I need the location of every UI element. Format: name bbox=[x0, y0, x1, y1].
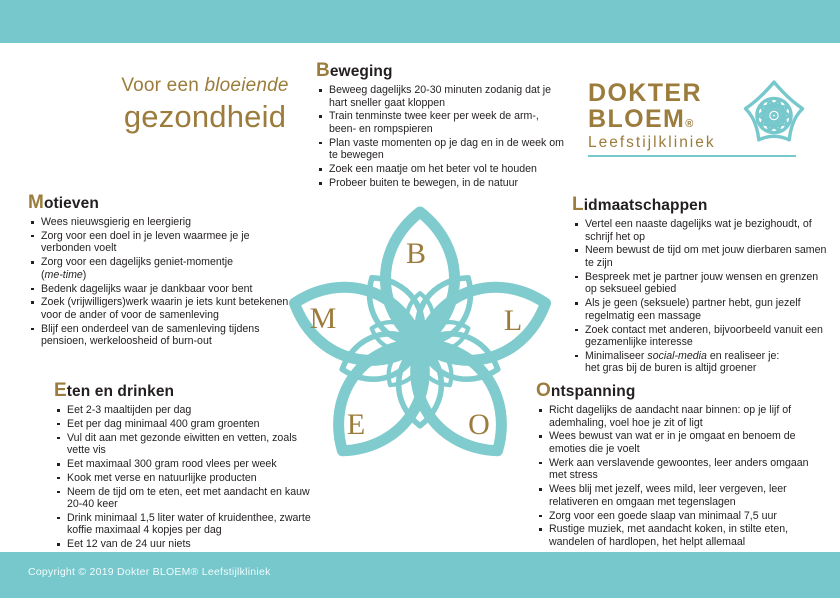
brand-logo: DOKTER BLOEM® Leefstijlkliniek bbox=[588, 80, 828, 170]
bullet-list-ontspanning: Richt dagelijks de aandacht naar binnen:… bbox=[536, 404, 828, 548]
list-item: Eet per dag minimaal 400 gram groenten bbox=[54, 418, 316, 431]
section-heading-motieven: Motieven bbox=[28, 192, 296, 214]
list-item: Zorg voor een goede slaap van minimaal 7… bbox=[536, 510, 828, 523]
list-item: Blijf een onderdeel van de samenleving t… bbox=[28, 323, 296, 348]
heading-capital: B bbox=[316, 60, 330, 81]
heading-rest: ten en drinken bbox=[67, 383, 174, 400]
section-beweging: Beweging Beweeg dagelijks 20-30 minuten … bbox=[316, 60, 564, 191]
list-item: Eet maximaal 300 gram rood vlees per wee… bbox=[54, 458, 316, 471]
list-item: Zoek (vrijwilligers)werk waarin je iets … bbox=[28, 296, 296, 321]
heading-rest: ntspanning bbox=[551, 383, 636, 400]
bullet-list-beweging: Beweeg dagelijks 20-30 minuten zodanig d… bbox=[316, 84, 564, 190]
flower-letter-m: M bbox=[306, 302, 340, 336]
list-item: Zoek een maatje om het beter vol te houd… bbox=[316, 163, 564, 176]
list-item: Werk aan verslavende gewoontes, leer and… bbox=[536, 457, 828, 482]
heading-rest: otieven bbox=[44, 195, 99, 212]
list-item: Bedenk dagelijks waar je dankbaar voor b… bbox=[28, 283, 296, 296]
list-item: Zoek contact met anderen, bijvoorbeeld v… bbox=[572, 324, 830, 349]
title-emphasis: bloeiende bbox=[204, 75, 288, 96]
logo-subtitle: Leefstijlkliniek bbox=[588, 134, 760, 152]
list-item: Vertel een naaste dagelijks wat je bezig… bbox=[572, 218, 830, 243]
list-item: Zorg voor een doel in je leven waarmee j… bbox=[28, 230, 296, 255]
heading-capital: E bbox=[54, 380, 67, 401]
list-item: Neem de tijd om te eten, eet met aandach… bbox=[54, 486, 316, 511]
section-eten-en-drinken: Eten en drinken Eet 2-3 maaltijden per d… bbox=[54, 380, 316, 552]
list-item: Probeer buiten te bewegen, in de natuur bbox=[316, 177, 564, 190]
list-item: Rustige muziek, met aandacht koken, in s… bbox=[536, 523, 828, 548]
list-item: Richt dagelijks de aandacht naar binnen:… bbox=[536, 404, 828, 429]
bullet-list-motieven: Wees nieuwsgierig en leergierig Zorg voo… bbox=[28, 216, 296, 348]
list-item: Plan vaste momenten op je dag en in de w… bbox=[316, 137, 564, 162]
bullet-list-lidmaatschappen: Vertel een naaste dagelijks wat je bezig… bbox=[572, 218, 830, 375]
bloem-flower-graphic: B M L E O bbox=[284, 192, 556, 482]
list-item: Eet 2-3 maaltijden per dag bbox=[54, 404, 316, 417]
list-item: Wees blij met jezelf, wees mild, leer ve… bbox=[536, 483, 828, 508]
title-line-2: gezondheid bbox=[80, 101, 330, 134]
list-item: Wees bewust van wat er in je omgaat en b… bbox=[536, 430, 828, 455]
title-prefix: Voor een bbox=[121, 75, 204, 96]
heading-capital: L bbox=[572, 194, 584, 215]
list-item: Zorg voor een dagelijks geniet-momentje(… bbox=[28, 256, 296, 281]
heading-capital: M bbox=[28, 192, 44, 213]
top-teal-band bbox=[0, 0, 840, 43]
list-item: Bespreek met je partner jouw wensen en g… bbox=[572, 271, 830, 296]
section-heading-lidmaatschappen: Lidmaatschappen bbox=[572, 194, 830, 216]
logo-wordmark: DOKTER BLOEM® Leefstijlkliniek bbox=[588, 80, 760, 157]
registered-mark-icon: ® bbox=[685, 118, 695, 130]
section-heading-eten: Eten en drinken bbox=[54, 380, 316, 402]
logo-word-dokter: DOKTER bbox=[588, 80, 760, 106]
list-item: Wees nieuwsgierig en leergierig bbox=[28, 216, 296, 229]
title-line-1: Voor een bloeiende bbox=[80, 75, 330, 97]
list-item: Drink minimaal 1,5 liter water of kruide… bbox=[54, 512, 316, 537]
logo-word-bloem: BLOEM® bbox=[588, 106, 760, 132]
list-item: Neem bewust de tijd om met jouw dierbare… bbox=[572, 244, 830, 269]
section-motieven: Motieven Wees nieuwsgierig en leergierig… bbox=[28, 192, 296, 349]
heading-rest: eweging bbox=[330, 63, 393, 80]
list-item: Kook met verse en natuurlijke producten bbox=[54, 472, 316, 485]
heading-rest: idmaatschappen bbox=[584, 197, 708, 214]
bullet-list-eten: Eet 2-3 maaltijden per dag Eet per dag m… bbox=[54, 404, 316, 551]
section-heading-beweging: Beweging bbox=[316, 60, 564, 82]
page-title: Voor een bloeiende gezondheid bbox=[80, 75, 330, 134]
list-item: Minimaliseer social-media en realiseer j… bbox=[572, 350, 830, 375]
bloem-rosette-icon bbox=[736, 76, 812, 152]
logo-underline-rule bbox=[588, 155, 796, 157]
flower-letter-o: O bbox=[462, 408, 496, 442]
list-item: Eet 12 van de 24 uur niets bbox=[54, 538, 316, 551]
section-heading-ontspanning: Ontspanning bbox=[536, 380, 828, 402]
list-item: Train tenminste twee keer per week de ar… bbox=[316, 110, 564, 135]
section-ontspanning: Ontspanning Richt dagelijks de aandacht … bbox=[536, 380, 828, 550]
flower-letter-l: L bbox=[496, 304, 530, 338]
list-item: Vul dit aan met gezonde eiwitten en vett… bbox=[54, 432, 316, 457]
list-item: Beweeg dagelijks 20-30 minuten zodanig d… bbox=[316, 84, 564, 109]
flower-letter-e: E bbox=[339, 408, 373, 442]
list-item: Als je geen (seksuele) partner hebt, gun… bbox=[572, 297, 830, 322]
flower-letter-b: B bbox=[399, 237, 433, 271]
poster-canvas: Copyright © 2019 Dokter BLOEM® Leefstijl… bbox=[0, 0, 840, 598]
logo-bloem-text: BLOEM bbox=[588, 105, 685, 133]
section-lidmaatschappen: Lidmaatschappen Vertel een naaste dageli… bbox=[572, 194, 830, 376]
copyright-text: Copyright © 2019 Dokter BLOEM® Leefstijl… bbox=[28, 566, 271, 578]
